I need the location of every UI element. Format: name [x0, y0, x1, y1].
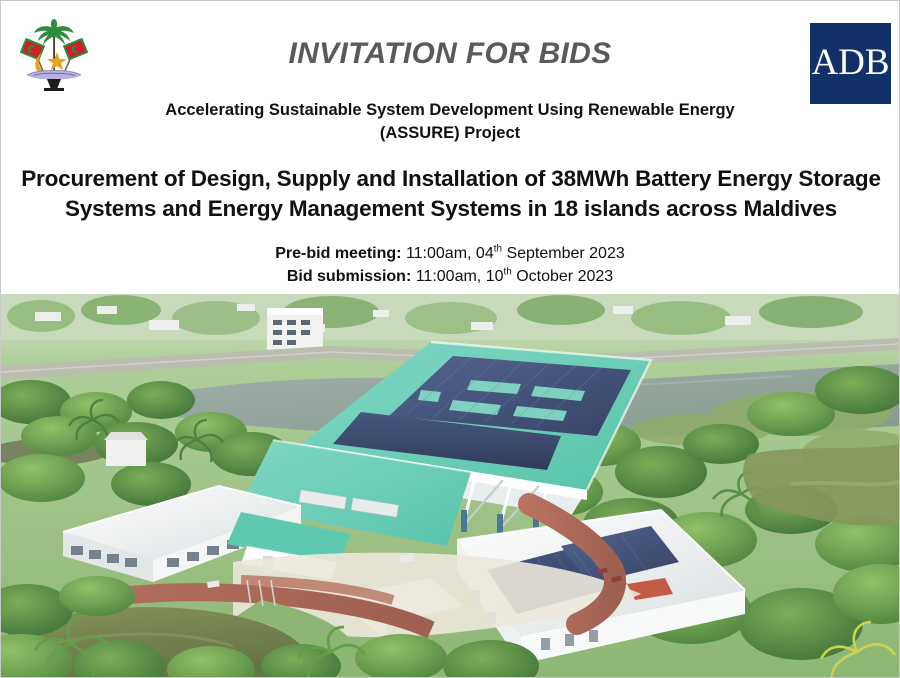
procurement-title-line-1: Procurement of Design, Supply and Instal… — [9, 164, 893, 194]
pre-bid-meeting-date: Pre-bid meeting: 11:00am, 04th September… — [1, 242, 899, 265]
project-title: Accelerating Sustainable System Developm… — [61, 99, 839, 146]
bid-submission-label: Bid submission: — [287, 268, 411, 285]
bid-submission-date: Bid submission: 11:00am, 10th October 20… — [1, 265, 899, 288]
pre-bid-meeting-time: 11:00am, — [406, 245, 472, 262]
page-title: INVITATION FOR BIDS — [1, 37, 899, 71]
procurement-title-line-2: Systems and Energy Management Systems in… — [9, 194, 893, 224]
bid-submission-month-year: October 2023 — [516, 268, 613, 285]
project-title-line-2: (ASSURE) Project — [61, 122, 839, 145]
bid-submission-time: 11:00am, — [416, 268, 482, 285]
project-title-line-1: Accelerating Sustainable System Developm… — [61, 99, 839, 122]
bid-submission-ordinal: th — [504, 267, 512, 278]
pre-bid-meeting-label: Pre-bid meeting: — [275, 245, 401, 262]
pre-bid-meeting-ordinal: th — [494, 244, 502, 255]
bid-submission-day: 10 — [486, 268, 504, 285]
key-dates-block: Pre-bid meeting: 11:00am, 04th September… — [1, 242, 899, 288]
pre-bid-meeting-month-year: September 2023 — [506, 245, 624, 262]
header-band: ADB INVITATION FOR BIDS Accelerating Sus… — [1, 1, 899, 294]
pre-bid-meeting-day: 04 — [476, 245, 494, 262]
invitation-for-bids-page: ADB INVITATION FOR BIDS Accelerating Sus… — [0, 0, 900, 678]
procurement-title: Procurement of Design, Supply and Instal… — [9, 164, 893, 224]
aerial-photo-solar-powerplant — [1, 294, 899, 678]
